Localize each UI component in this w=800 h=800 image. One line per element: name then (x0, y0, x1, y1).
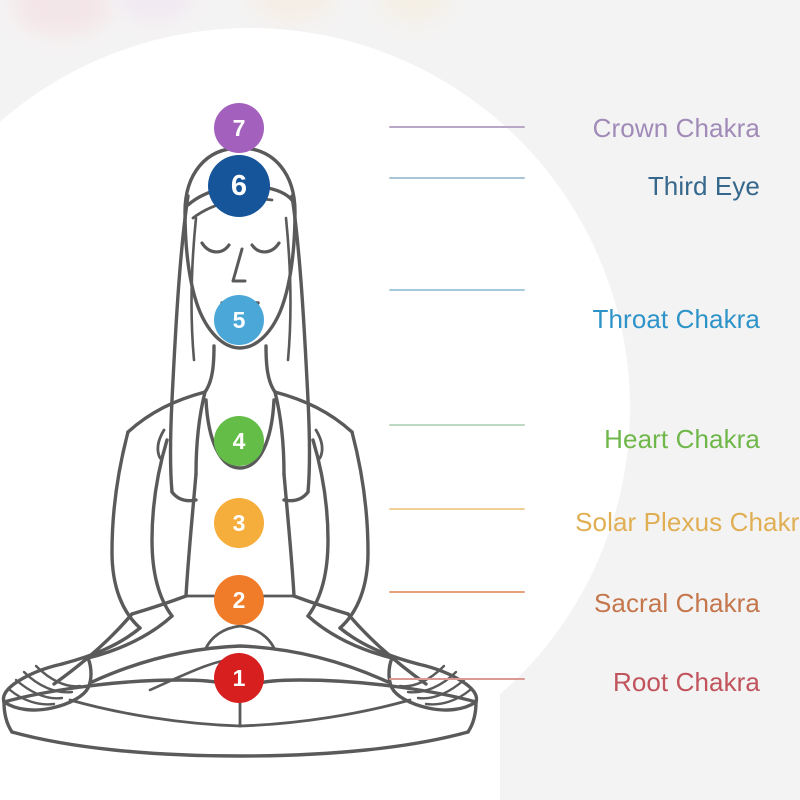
chakra-circle-7[interactable]: 7 (214, 103, 264, 153)
chakra-circle-2[interactable]: 2 (214, 575, 264, 625)
chakra-diagram-canvas: 7654321 Crown ChakraThird EyeThroat Chak… (0, 0, 800, 800)
chakra-label-sacral-chakra[interactable]: Sacral Chakra (594, 588, 760, 619)
chakra-label-heart-chakra[interactable]: Heart Chakra (604, 424, 760, 455)
chakra-circle-1[interactable]: 1 (214, 653, 264, 703)
chakra-label-crown-chakra[interactable]: Crown Chakra (593, 113, 760, 144)
chakra-label-solar-plexus-chakra[interactable]: Solar Plexus Chakra (575, 507, 800, 538)
chakra-number-2: 2 (233, 589, 246, 612)
chakra-number-5: 5 (233, 309, 246, 332)
chakra-number-7: 7 (233, 117, 246, 140)
chakra-label-throat-chakra[interactable]: Throat Chakra (593, 304, 760, 335)
chakra-label-third-eye[interactable]: Third Eye (648, 171, 760, 202)
chakra-circle-4[interactable]: 4 (214, 416, 264, 466)
chakra-number-6: 6 (231, 172, 247, 201)
chakra-number-3: 3 (233, 512, 246, 535)
chakra-label-root-chakra[interactable]: Root Chakra (613, 667, 760, 698)
chakra-circle-6[interactable]: 6 (208, 155, 270, 217)
chakra-number-4: 4 (233, 430, 246, 453)
chakra-circle-3[interactable]: 3 (214, 498, 264, 548)
chakra-number-1: 1 (233, 667, 246, 690)
chakra-circle-5[interactable]: 5 (214, 295, 264, 345)
